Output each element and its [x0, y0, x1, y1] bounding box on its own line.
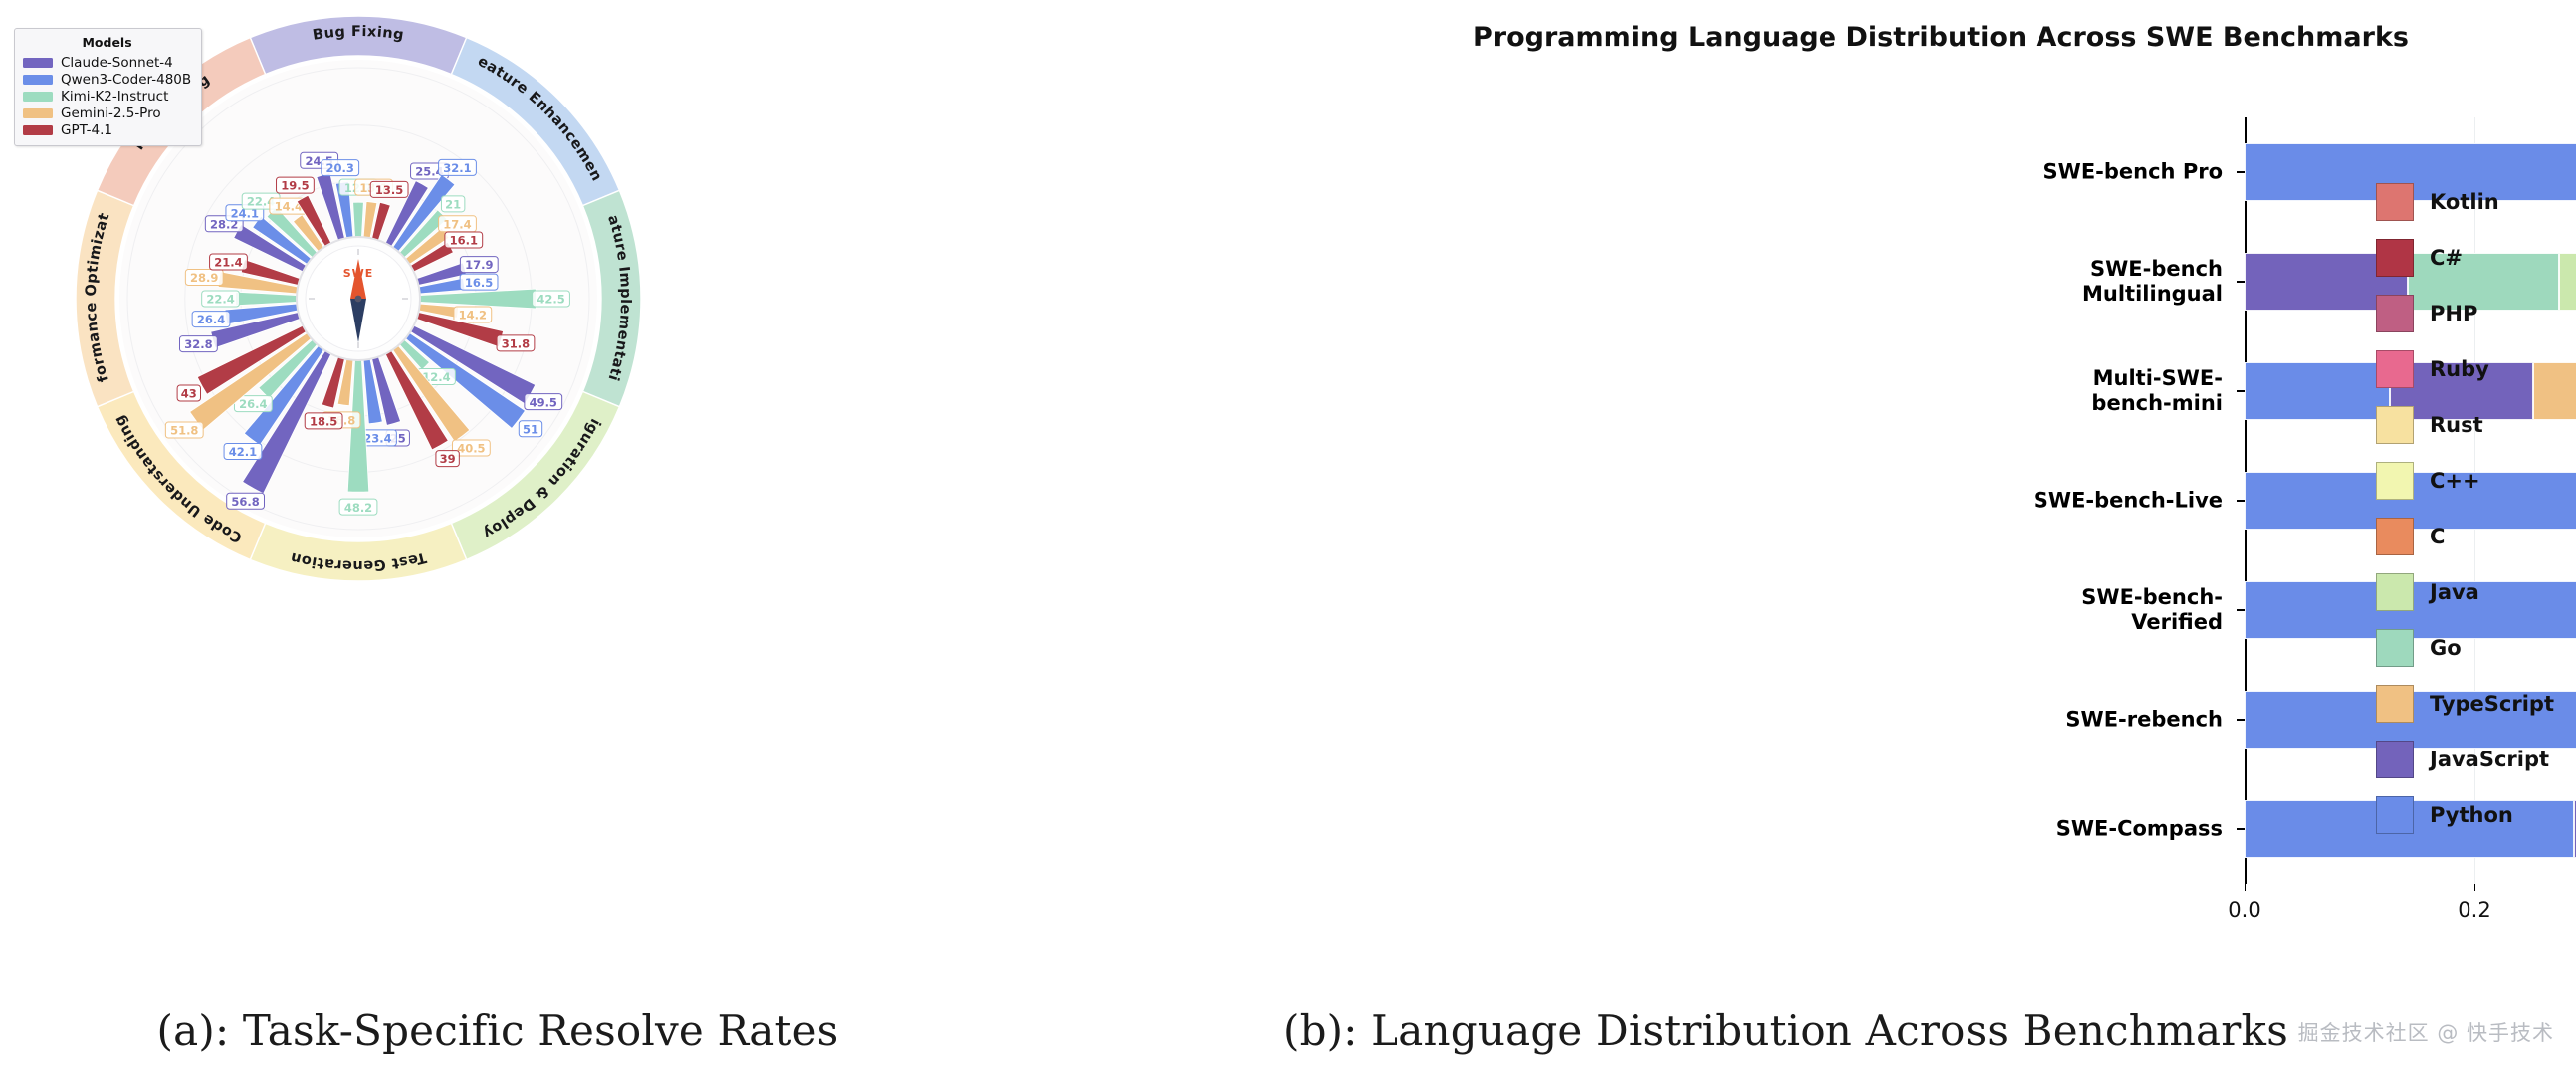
models-legend-label: Gemini-2.5-Pro — [61, 106, 161, 121]
language-legend-label: Kotlin — [2430, 190, 2499, 214]
y-tick-mark — [2237, 390, 2245, 392]
legend-swatch-icon — [2376, 295, 2414, 332]
radial-value-label: 51.8 — [165, 422, 203, 438]
svg-text:56.8: 56.8 — [231, 495, 259, 509]
svg-text:17.9: 17.9 — [465, 258, 493, 272]
svg-text:22.4: 22.4 — [206, 293, 234, 307]
language-legend-label: TypeScript — [2430, 692, 2554, 716]
svg-text:49.5: 49.5 — [530, 395, 557, 409]
panel-a-caption: (a): Task-Specific Resolve Rates — [0, 1006, 995, 1055]
svg-text:32.8: 32.8 — [184, 337, 212, 351]
benchmark-label: SWE-bench-Live — [2034, 489, 2223, 514]
svg-text:18.5: 18.5 — [310, 414, 337, 428]
language-legend-item[interactable]: Java — [2376, 564, 2554, 620]
y-tick-mark — [2237, 171, 2245, 173]
language-legend-label: Go — [2430, 636, 2462, 660]
radial-value-label: 49.5 — [525, 394, 562, 410]
radial-value-label: 14.2 — [454, 307, 492, 322]
svg-text:39: 39 — [440, 452, 456, 466]
language-legend-label: C# — [2430, 246, 2463, 270]
language-legend-item[interactable]: Ruby — [2376, 341, 2554, 397]
radial-value-label: 51 — [519, 421, 541, 437]
language-legend-item[interactable]: C# — [2376, 230, 2554, 286]
radial-bar — [353, 202, 364, 237]
radial-value-label: 32.8 — [180, 336, 218, 352]
svg-text:17.4: 17.4 — [443, 217, 471, 231]
compass-center-label: SWE — [343, 267, 374, 280]
radial-value-label: 13.5 — [370, 181, 408, 197]
language-legend-label: C — [2430, 525, 2445, 548]
legend-swatch-icon — [2376, 629, 2414, 667]
radial-value-label: 56.8 — [227, 493, 265, 509]
language-legend-item[interactable]: PHP — [2376, 286, 2554, 341]
benchmark-label: SWE-bench Multilingual — [2082, 257, 2223, 307]
language-legend-label: JavaScript — [2430, 748, 2549, 771]
bar-segment-java[interactable] — [2559, 253, 2576, 311]
legend-swatch-icon — [2376, 685, 2414, 723]
legend-swatch-icon — [2376, 462, 2414, 500]
models-legend-label: Claude-Sonnet-4 — [61, 55, 173, 71]
radial-value-label: 16.5 — [460, 274, 498, 290]
language-legend-label: Java — [2430, 580, 2479, 604]
legend-swatch-icon — [2376, 183, 2414, 221]
radial-value-label: 43 — [177, 385, 200, 401]
legend-swatch-icon — [2376, 350, 2414, 388]
svg-text:51: 51 — [523, 422, 538, 436]
language-legend-label: PHP — [2430, 302, 2477, 325]
radial-value-label: 42.1 — [224, 444, 262, 460]
language-legend-item[interactable]: C++ — [2376, 453, 2554, 509]
radial-value-label: 22.4 — [202, 291, 240, 307]
radial-value-label: 42.5 — [533, 291, 570, 307]
legend-swatch-icon — [23, 108, 53, 118]
models-legend: Models Claude-Sonnet-4Qwen3-Coder-480BKi… — [14, 28, 202, 146]
language-legend-item[interactable]: Kotlin — [2376, 174, 2554, 230]
radial-value-label: 48.2 — [339, 499, 377, 515]
language-legend: KotlinC#PHPRubyRustC++CJavaGoTypeScriptJ… — [2376, 174, 2554, 843]
benchmark-label: SWE-rebench — [2065, 708, 2223, 733]
svg-text:31.8: 31.8 — [502, 336, 530, 350]
svg-text:51.8: 51.8 — [170, 424, 198, 438]
svg-text:21: 21 — [445, 197, 461, 211]
legend-swatch-icon — [23, 92, 53, 102]
svg-text:42.1: 42.1 — [229, 445, 257, 459]
models-legend-rows: Claude-Sonnet-4Qwen3-Coder-480BKimi-K2-I… — [23, 54, 191, 138]
y-tick-mark — [2237, 500, 2245, 502]
language-legend-item[interactable]: TypeScript — [2376, 676, 2554, 732]
svg-text:48.2: 48.2 — [344, 501, 372, 515]
language-legend-item[interactable]: JavaScript — [2376, 732, 2554, 787]
benchmark-label: SWE-bench Pro — [2043, 160, 2223, 185]
legend-swatch-icon — [23, 58, 53, 68]
svg-text:20.3: 20.3 — [326, 161, 354, 175]
legend-swatch-icon — [23, 75, 53, 85]
radial-value-label: 26.4 — [192, 312, 230, 327]
legend-swatch-icon — [2376, 518, 2414, 555]
models-legend-label: Kimi-K2-Instruct — [61, 89, 168, 105]
watermark: 掘金技术社区 @ 快手技术 — [2298, 1017, 2554, 1047]
language-legend-item[interactable]: Python — [2376, 787, 2554, 843]
models-legend-label: GPT-4.1 — [61, 122, 112, 138]
radial-value-label: 16.1 — [445, 232, 483, 248]
svg-text:43: 43 — [181, 387, 197, 401]
svg-text:14.2: 14.2 — [459, 309, 487, 322]
panel-a-radial: Models Claude-Sonnet-4Qwen3-Coder-480BKi… — [0, 0, 995, 1073]
svg-text:16.1: 16.1 — [450, 234, 478, 248]
bar-segment-python[interactable] — [2245, 362, 2390, 420]
legend-swatch-icon — [23, 125, 53, 135]
radial-value-label: 32.1 — [439, 159, 477, 175]
models-legend-item[interactable]: Gemini-2.5-Pro — [23, 105, 191, 121]
svg-text:13.5: 13.5 — [375, 183, 403, 197]
x-tick-label: 0.0 — [2228, 898, 2260, 922]
models-legend-label: Qwen3-Coder-480B — [61, 72, 191, 88]
x-tick-mark — [2245, 884, 2246, 891]
benchmark-label: Multi-SWE- bench-mini — [2091, 366, 2223, 416]
svg-text:32.1: 32.1 — [443, 161, 471, 175]
radial-value-label: 28.9 — [185, 269, 223, 285]
models-legend-item[interactable]: GPT-4.1 — [23, 121, 191, 138]
radial-value-label: 31.8 — [497, 335, 535, 351]
svg-text:23.4: 23.4 — [363, 431, 391, 445]
svg-text:16.5: 16.5 — [465, 276, 493, 290]
language-legend-label: Rust — [2430, 413, 2483, 437]
radial-value-label: 18.5 — [305, 413, 342, 429]
svg-text:21.4: 21.4 — [214, 256, 242, 270]
language-legend-label: Ruby — [2430, 357, 2489, 381]
chart-title: Programming Language Distribution Across… — [1354, 22, 2528, 53]
radial-value-label: 20.3 — [322, 160, 359, 176]
benchmark-label: SWE-bench- Verified — [2081, 585, 2223, 635]
y-tick-mark — [2237, 719, 2245, 721]
svg-text:40.5: 40.5 — [457, 442, 485, 456]
svg-text:26.4: 26.4 — [239, 397, 267, 411]
legend-swatch-icon — [2376, 406, 2414, 444]
language-legend-label: C++ — [2430, 469, 2480, 493]
radial-value-label: 21.4 — [210, 254, 248, 270]
models-legend-item[interactable]: Claude-Sonnet-4 — [23, 54, 191, 71]
svg-text:28.9: 28.9 — [190, 271, 218, 285]
models-legend-item[interactable]: Kimi-K2-Instruct — [23, 88, 191, 105]
radial-value-label: 17.4 — [439, 216, 477, 232]
legend-swatch-icon — [2376, 796, 2414, 834]
panel-b-stacked-bars: Programming Language Distribution Across… — [995, 0, 2576, 1073]
models-legend-title: Models — [23, 35, 191, 50]
y-tick-mark — [2237, 609, 2245, 611]
language-legend-label: Python — [2430, 803, 2513, 827]
legend-swatch-icon — [2376, 239, 2414, 277]
radial-value-label: 19.5 — [277, 177, 315, 193]
radial-value-label: 21 — [441, 196, 464, 212]
y-tick-mark — [2237, 828, 2245, 830]
language-legend-item[interactable]: Rust — [2376, 397, 2554, 453]
figure-root: Models Claude-Sonnet-4Qwen3-Coder-480BKi… — [0, 0, 2576, 1073]
svg-text:26.4: 26.4 — [197, 313, 225, 326]
radial-value-label: 17.9 — [460, 257, 498, 273]
svg-text:42.5: 42.5 — [537, 293, 564, 307]
models-legend-item[interactable]: Qwen3-Coder-480B — [23, 71, 191, 88]
x-tick-mark — [2474, 884, 2475, 891]
x-tick-label: 0.2 — [2458, 898, 2490, 922]
language-legend-item[interactable]: Go — [2376, 620, 2554, 676]
language-legend-item[interactable]: C — [2376, 509, 2554, 564]
svg-text:19.5: 19.5 — [281, 179, 309, 193]
legend-swatch-icon — [2376, 741, 2414, 778]
legend-swatch-icon — [2376, 573, 2414, 611]
benchmark-label: SWE-Compass — [2056, 817, 2223, 842]
radial-value-label: 39 — [436, 451, 459, 467]
y-tick-mark — [2237, 281, 2245, 283]
